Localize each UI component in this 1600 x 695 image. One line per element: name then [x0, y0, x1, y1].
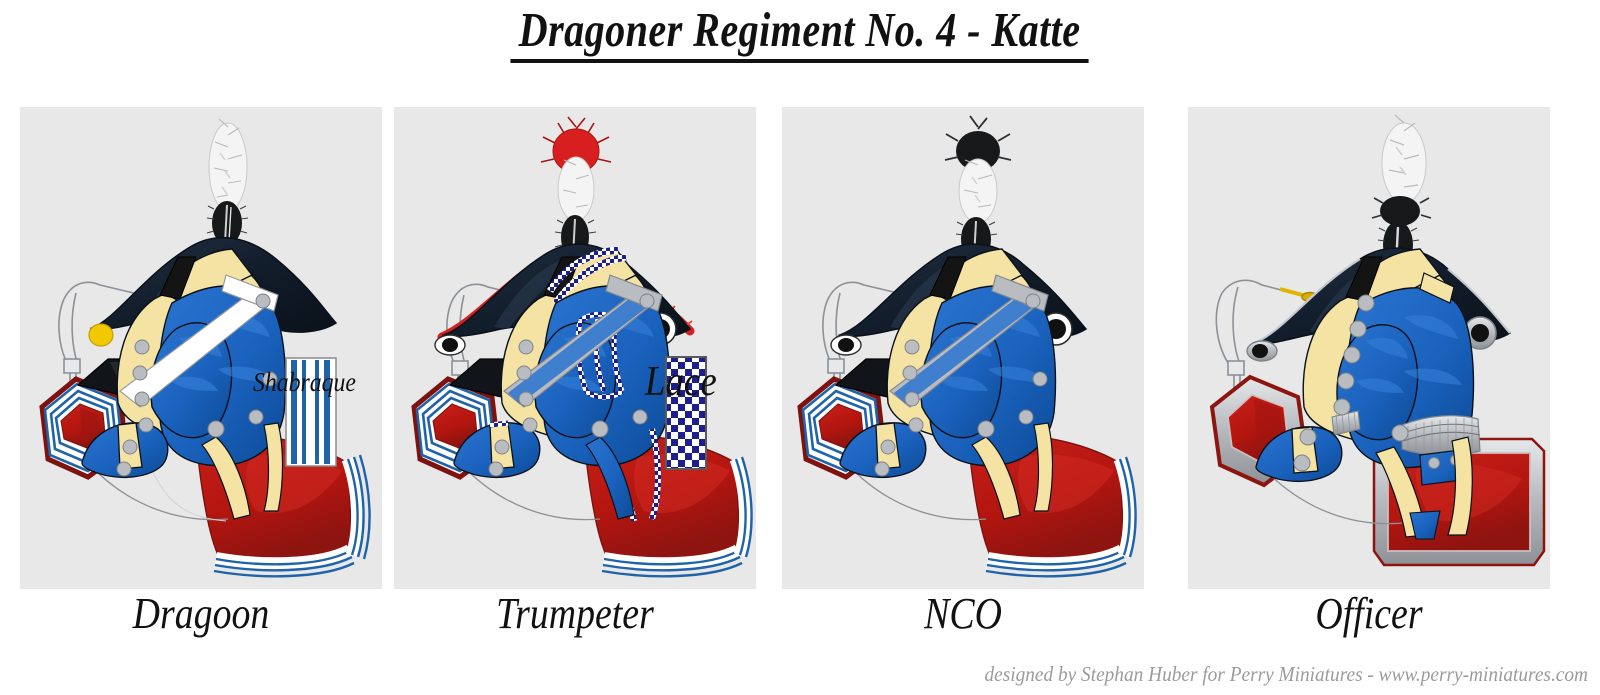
dragoon-illustration — [20, 107, 382, 589]
plume — [541, 117, 611, 221]
hat-cockade-left — [1247, 341, 1277, 361]
figure-label-trumpeter: Trumpeter — [419, 588, 730, 639]
credit-line: designed by Stephan Huber for Perry Mini… — [985, 662, 1588, 687]
figure-panel-trumpeter — [394, 107, 756, 589]
plume — [1372, 115, 1431, 226]
figure-panel-officer — [1188, 107, 1550, 589]
nco-illustration — [782, 107, 1144, 589]
hat-cockade-left — [831, 335, 861, 355]
swatch-caption-lace: Lace — [645, 358, 717, 406]
figure-label-officer: Officer — [1213, 588, 1524, 639]
figure-panel-dragoon — [20, 107, 382, 589]
hat-cockade-left — [435, 335, 465, 355]
plume — [209, 119, 247, 211]
plate-title-wrap: Dragoner Regiment No. 4 - Katte — [0, 4, 1600, 63]
figure-label-dragoon: Dragoon — [45, 588, 356, 639]
trumpeter-illustration — [394, 107, 756, 589]
figure-label-nco: NCO — [807, 588, 1118, 639]
plume — [945, 116, 1011, 223]
swatch-caption-shabraque: Shabraque — [253, 367, 356, 398]
figure-panel-nco — [782, 107, 1144, 589]
page-title: Dragoner Regiment No. 4 - Katte — [511, 4, 1089, 63]
officer-illustration — [1188, 107, 1550, 589]
uniform-plate: Dragoner Regiment No. 4 - Katte — [0, 0, 1600, 695]
